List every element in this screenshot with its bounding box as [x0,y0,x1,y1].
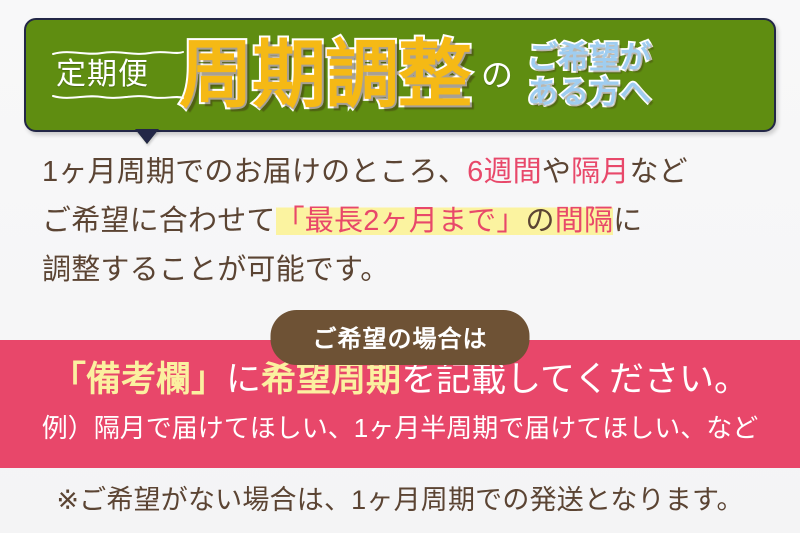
subscription-badge: 定期便 [52,47,153,103]
instruction-main-line: 「備考欄」に希望周期を記載してください。 [0,360,800,400]
banner-main-heading: 周期調整 [179,38,471,112]
wave-line-top-icon [52,49,184,57]
body-line-2-text-a: ご希望に合わせて [42,205,276,237]
body-line-1-text-c: など [629,156,687,188]
footer-note: ※ご希望がない場合は、1ヶ月周期での発送となります。 [0,478,800,517]
body-line-1-pink-2: 隔月 [571,156,629,188]
banner-particle: の [481,59,513,91]
banner-wish-line-2: ある方へ [527,77,651,109]
body-line-2-text-b: に [613,205,642,237]
header-banner-box: 定期便 周期調整 の ご希望が ある方へ [24,18,776,132]
body-line-2-highlight-pink-2: 間隔 [555,205,613,237]
banner-tail-pointer [136,130,158,144]
instruction-white-2: を記載してください。 [401,360,749,399]
instruction-yellow-2: 希望周期 [261,360,401,399]
body-line-2-highlight-brown: の [526,205,555,237]
request-case-badge: ご希望の場合は [271,310,530,365]
body-line-3: 調整することが可能です。 [42,246,772,295]
banner-wish-block: ご希望が ある方へ [527,42,651,108]
header-banner: 定期便 周期調整 の ご希望が ある方へ [24,18,776,132]
instruction-example-line: 例）隔月で届けてほしい、1ヶ月半周期で届けてほしい、など [0,408,800,445]
instruction-white-1: に [226,360,261,399]
wave-line-bottom-icon [52,93,184,101]
body-line-2: ご希望に合わせて「最長2ヶ月まで」の間隔に [42,197,772,246]
body-paragraph: 1ヶ月周期でのお届けのところ、6週間や隔月など ご希望に合わせて「最長2ヶ月まで… [42,148,772,295]
banner-wish-line-1: ご希望が [527,42,651,74]
promo-banner-page: 定期便 周期調整 の ご希望が ある方へ 1ヶ月周期でのお届けのところ、6週間や… [0,0,800,533]
instruction-yellow-1: 「備考欄」 [51,360,226,399]
subscription-badge-label: 定期便 [56,58,149,91]
body-line-2-highlight-pink-1: 「最長2ヶ月まで」 [276,205,526,237]
body-line-1-pink-1: 6週間 [467,156,542,188]
body-line-1-text-a: 1ヶ月周期でのお届けのところ、 [42,156,467,188]
body-line-1: 1ヶ月周期でのお届けのところ、6週間や隔月など [42,148,772,197]
body-line-1-text-b: や [542,156,571,188]
